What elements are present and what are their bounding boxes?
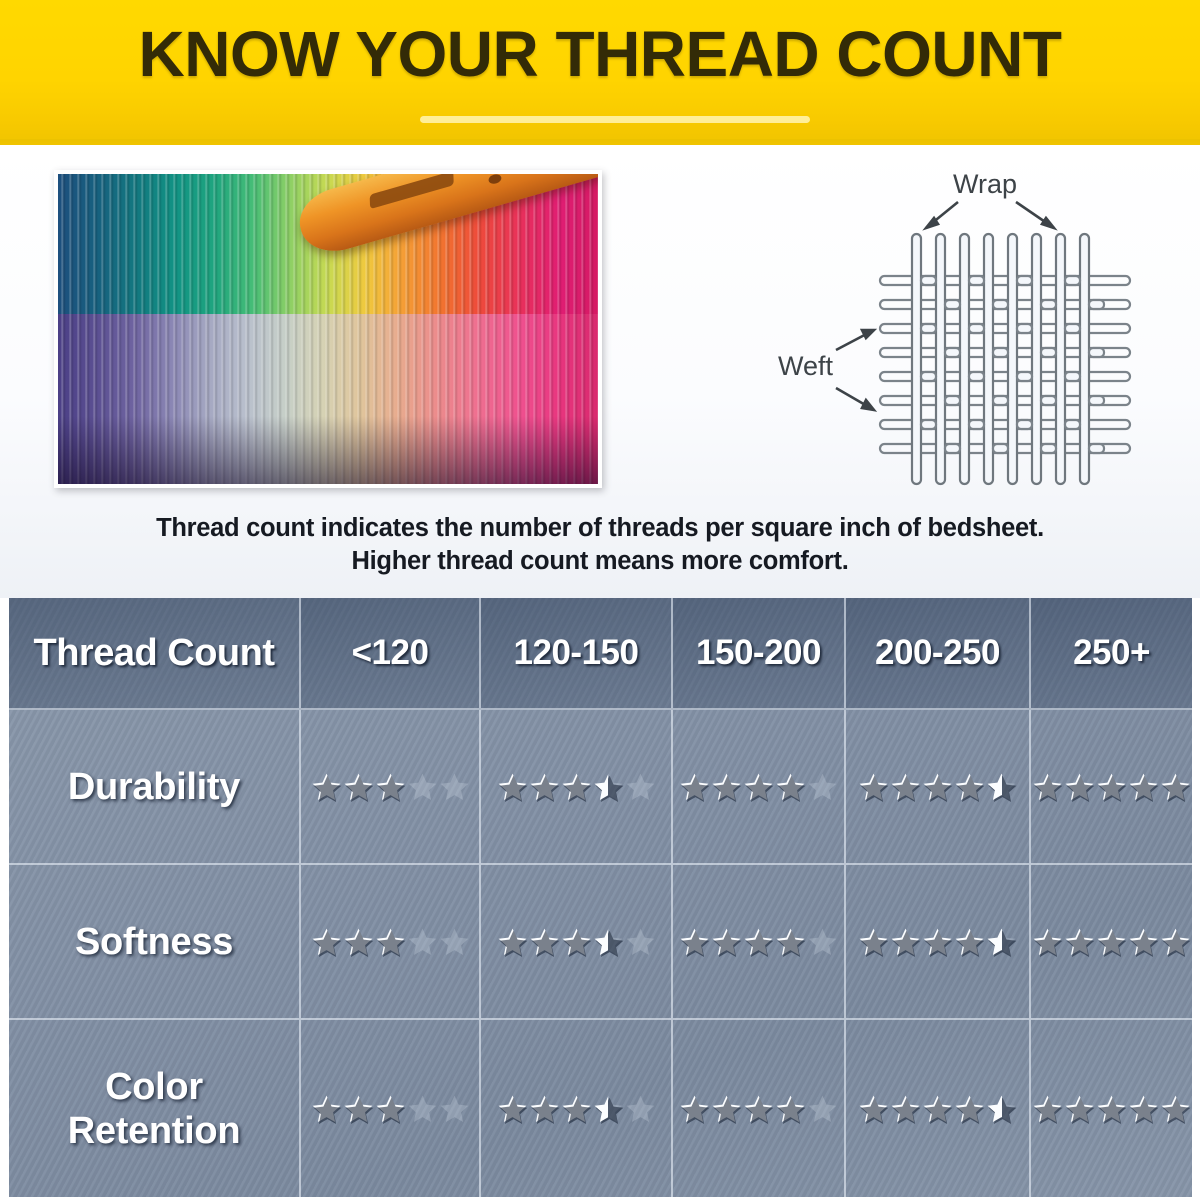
star-full-icon bbox=[858, 1094, 889, 1124]
star-empty-icon bbox=[807, 772, 838, 802]
star-half-icon bbox=[593, 772, 624, 802]
caption-text: Thread count indicates the number of thr… bbox=[0, 512, 1200, 578]
weaving-loom-photo bbox=[54, 170, 602, 488]
star-empty-icon bbox=[407, 1094, 438, 1124]
table-cell bbox=[481, 865, 673, 1020]
wrap-label: Wrap bbox=[953, 169, 1017, 199]
star-empty-icon bbox=[625, 927, 656, 957]
star-full-icon bbox=[343, 927, 374, 957]
star-full-icon bbox=[529, 927, 560, 957]
star-empty-icon bbox=[439, 772, 470, 802]
infographic-page: KNOW YOUR THREAD COUNT bbox=[0, 0, 1200, 1197]
table-cell bbox=[673, 1020, 846, 1197]
table-cell bbox=[673, 710, 846, 865]
star-full-icon bbox=[1096, 772, 1127, 802]
table-header-120150: 120-150 bbox=[481, 598, 673, 710]
thread-count-comparison-table: Thread Count<120120-150150-200200-250250… bbox=[0, 598, 1200, 1197]
header-label: Thread Count bbox=[34, 632, 275, 675]
star-full-icon bbox=[922, 772, 953, 802]
row-label-text: ColorRetention bbox=[68, 1065, 241, 1153]
header-banner: KNOW YOUR THREAD COUNT bbox=[0, 0, 1200, 145]
star-half-icon bbox=[593, 1094, 624, 1124]
star-full-icon bbox=[890, 772, 921, 802]
table-cell bbox=[1031, 865, 1192, 1020]
star-full-icon bbox=[1064, 927, 1095, 957]
header-label: 200-250 bbox=[875, 633, 1000, 673]
star-full-icon bbox=[890, 1094, 921, 1124]
star-full-icon bbox=[743, 927, 774, 957]
star-full-icon bbox=[1096, 927, 1127, 957]
star-full-icon bbox=[1096, 1094, 1127, 1124]
star-rating bbox=[858, 927, 1017, 957]
table-header-200250: 200-250 bbox=[846, 598, 1031, 710]
star-half-icon bbox=[986, 1094, 1017, 1124]
star-rating bbox=[497, 927, 656, 957]
star-full-icon bbox=[1032, 927, 1063, 957]
star-rating bbox=[679, 927, 838, 957]
star-full-icon bbox=[679, 772, 710, 802]
star-full-icon bbox=[1064, 1094, 1095, 1124]
star-full-icon bbox=[890, 927, 921, 957]
star-empty-icon bbox=[439, 1094, 470, 1124]
star-full-icon bbox=[775, 927, 806, 957]
star-rating bbox=[1032, 1094, 1191, 1124]
table-cell bbox=[673, 865, 846, 1020]
table-cell bbox=[846, 710, 1031, 865]
star-rating bbox=[679, 772, 838, 802]
star-empty-icon bbox=[439, 927, 470, 957]
star-full-icon bbox=[375, 772, 406, 802]
star-full-icon bbox=[311, 1094, 342, 1124]
star-rating bbox=[858, 772, 1017, 802]
weft-label: Weft bbox=[778, 351, 834, 381]
star-half-fill bbox=[593, 772, 609, 802]
row-label-text: Durability bbox=[68, 765, 240, 809]
star-empty-icon bbox=[807, 927, 838, 957]
star-full-icon bbox=[561, 772, 592, 802]
star-full-icon bbox=[311, 927, 342, 957]
star-full-icon bbox=[858, 772, 889, 802]
star-full-icon bbox=[529, 1094, 560, 1124]
star-full-icon bbox=[954, 772, 985, 802]
star-full-icon bbox=[711, 772, 742, 802]
header-label: 250+ bbox=[1073, 633, 1150, 673]
page-title: KNOW YOUR THREAD COUNT bbox=[0, 17, 1200, 91]
star-full-icon bbox=[1160, 1094, 1191, 1124]
star-half-icon bbox=[986, 927, 1017, 957]
star-full-icon bbox=[954, 927, 985, 957]
star-full-icon bbox=[679, 1094, 710, 1124]
star-rating bbox=[497, 1094, 656, 1124]
star-full-icon bbox=[922, 1094, 953, 1124]
title-underline-accent bbox=[420, 116, 810, 123]
star-empty-icon bbox=[407, 772, 438, 802]
star-full-icon bbox=[711, 1094, 742, 1124]
star-full-icon bbox=[497, 1094, 528, 1124]
table-cell bbox=[846, 1020, 1031, 1197]
shuttle-hole bbox=[488, 174, 503, 185]
star-full-icon bbox=[954, 1094, 985, 1124]
star-half-fill bbox=[986, 772, 1002, 802]
star-full-icon bbox=[858, 927, 889, 957]
weave-diagram: Wrap Weft bbox=[762, 160, 1200, 505]
photo-bottom-shadow bbox=[58, 416, 598, 484]
table-cell bbox=[481, 710, 673, 865]
star-empty-icon bbox=[625, 1094, 656, 1124]
table-header-250: 250+ bbox=[1031, 598, 1192, 710]
star-half-fill bbox=[986, 927, 1002, 957]
table-cell bbox=[1031, 710, 1192, 865]
caption-line-2: Higher thread count means more comfort. bbox=[0, 545, 1200, 578]
star-full-icon bbox=[529, 772, 560, 802]
star-half-fill bbox=[986, 1094, 1002, 1124]
star-full-icon bbox=[743, 772, 774, 802]
table-row-label-softness: Softness bbox=[9, 865, 301, 1020]
star-full-icon bbox=[1160, 772, 1191, 802]
weave-diagram-svg: Wrap Weft bbox=[762, 160, 1200, 505]
table-cell bbox=[1031, 1020, 1192, 1197]
star-half-icon bbox=[593, 927, 624, 957]
table-header-150200: 150-200 bbox=[673, 598, 846, 710]
star-full-icon bbox=[775, 772, 806, 802]
star-full-icon bbox=[922, 927, 953, 957]
table-row-label-color-retention: ColorRetention bbox=[9, 1020, 301, 1197]
star-full-icon bbox=[1032, 1094, 1063, 1124]
table-cell bbox=[301, 1020, 481, 1197]
star-full-icon bbox=[1128, 1094, 1159, 1124]
star-half-icon bbox=[986, 772, 1017, 802]
table-row-label-durability: Durability bbox=[9, 710, 301, 865]
loom-photo-image bbox=[58, 174, 598, 484]
star-full-icon bbox=[497, 927, 528, 957]
star-rating bbox=[311, 1094, 470, 1124]
star-full-icon bbox=[743, 1094, 774, 1124]
table-cell bbox=[301, 710, 481, 865]
table-cell bbox=[301, 865, 481, 1020]
header-label: 150-200 bbox=[696, 633, 821, 673]
star-full-icon bbox=[679, 927, 710, 957]
star-full-icon bbox=[343, 772, 374, 802]
table-cell bbox=[481, 1020, 673, 1197]
header-label: 120-150 bbox=[514, 633, 639, 673]
star-full-icon bbox=[1032, 772, 1063, 802]
star-full-icon bbox=[775, 1094, 806, 1124]
star-rating bbox=[679, 1094, 838, 1124]
table-grid: Thread Count<120120-150150-200200-250250… bbox=[9, 598, 1192, 1197]
star-full-icon bbox=[561, 927, 592, 957]
star-rating bbox=[497, 772, 656, 802]
star-full-icon bbox=[375, 927, 406, 957]
star-half-fill bbox=[593, 927, 609, 957]
table-header-120: <120 bbox=[301, 598, 481, 710]
star-full-icon bbox=[1128, 772, 1159, 802]
star-rating bbox=[311, 927, 470, 957]
star-full-icon bbox=[1128, 927, 1159, 957]
shuttle-slot bbox=[369, 174, 453, 209]
star-full-icon bbox=[497, 772, 528, 802]
header-label: <120 bbox=[352, 633, 429, 673]
star-rating bbox=[1032, 772, 1191, 802]
star-full-icon bbox=[561, 1094, 592, 1124]
star-empty-icon bbox=[407, 927, 438, 957]
star-full-icon bbox=[311, 772, 342, 802]
row-label-text: Softness bbox=[75, 920, 233, 964]
star-empty-icon bbox=[625, 772, 656, 802]
star-empty-icon bbox=[807, 1094, 838, 1124]
star-rating bbox=[1032, 927, 1191, 957]
caption-line-1: Thread count indicates the number of thr… bbox=[0, 512, 1200, 545]
star-full-icon bbox=[1160, 927, 1191, 957]
star-full-icon bbox=[343, 1094, 374, 1124]
star-rating bbox=[858, 1094, 1017, 1124]
star-full-icon bbox=[711, 927, 742, 957]
star-rating bbox=[311, 772, 470, 802]
table-header-corner: Thread Count bbox=[9, 598, 301, 710]
star-half-fill bbox=[593, 1094, 609, 1124]
star-full-icon bbox=[1064, 772, 1095, 802]
star-full-icon bbox=[375, 1094, 406, 1124]
table-cell bbox=[846, 865, 1031, 1020]
